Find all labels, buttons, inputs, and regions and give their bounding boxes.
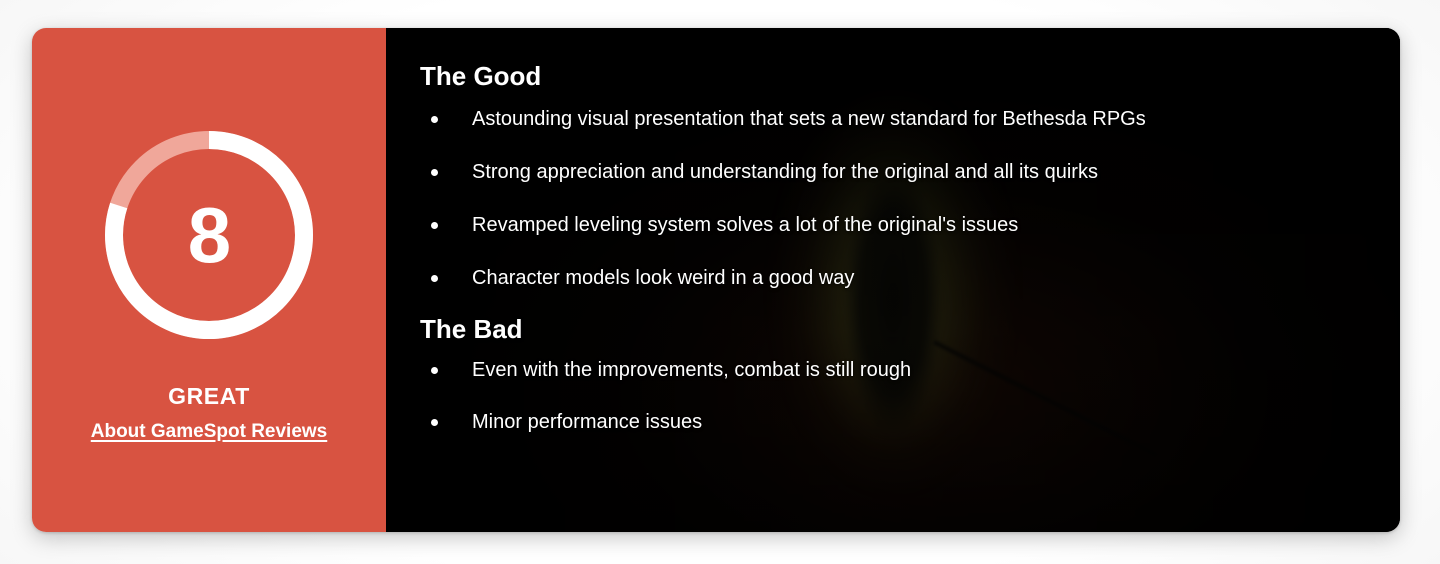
list-item: Minor performance issues [420, 409, 1360, 435]
score-verdict-label: GREAT [168, 383, 250, 410]
the-bad-heading: The Bad [420, 315, 1360, 345]
the-good-list: Astounding visual presentation that sets… [420, 106, 1360, 291]
list-item-text: Strong appreciation and understanding fo… [472, 159, 1098, 185]
list-item-text: Astounding visual presentation that sets… [472, 106, 1146, 132]
bullet-dot-icon [431, 419, 438, 426]
score-value: 8 [105, 131, 313, 339]
list-item-text: Minor performance issues [472, 409, 702, 435]
score-ring: 8 [105, 131, 313, 339]
bullet-dot-icon [431, 116, 438, 123]
score-panel: 8 GREAT About GameSpot Reviews [32, 28, 386, 532]
the-good-heading: The Good [420, 62, 1360, 92]
list-item: Character models look weird in a good wa… [420, 265, 1360, 291]
bullet-dot-icon [431, 222, 438, 229]
the-bad-list: Even with the improvements, combat is st… [420, 357, 1360, 435]
list-item: Astounding visual presentation that sets… [420, 106, 1360, 132]
list-item: Revamped leveling system solves a lot of… [420, 212, 1360, 238]
list-item: Even with the improvements, combat is st… [420, 357, 1360, 383]
list-item: Strong appreciation and understanding fo… [420, 159, 1360, 185]
bullet-dot-icon [431, 275, 438, 282]
bullet-dot-icon [431, 367, 438, 374]
list-item-text: Character models look weird in a good wa… [472, 265, 854, 291]
review-summary: The Good Astounding visual presentation … [386, 28, 1400, 481]
about-gamespot-reviews-link[interactable]: About GameSpot Reviews [91, 421, 328, 443]
list-item-text: Revamped leveling system solves a lot of… [472, 212, 1018, 238]
review-score-card: 8 GREAT About GameSpot Reviews The Good … [32, 28, 1400, 532]
list-item-text: Even with the improvements, combat is st… [472, 357, 911, 383]
bullet-dot-icon [431, 169, 438, 176]
content-panel: The Good Astounding visual presentation … [386, 28, 1400, 532]
